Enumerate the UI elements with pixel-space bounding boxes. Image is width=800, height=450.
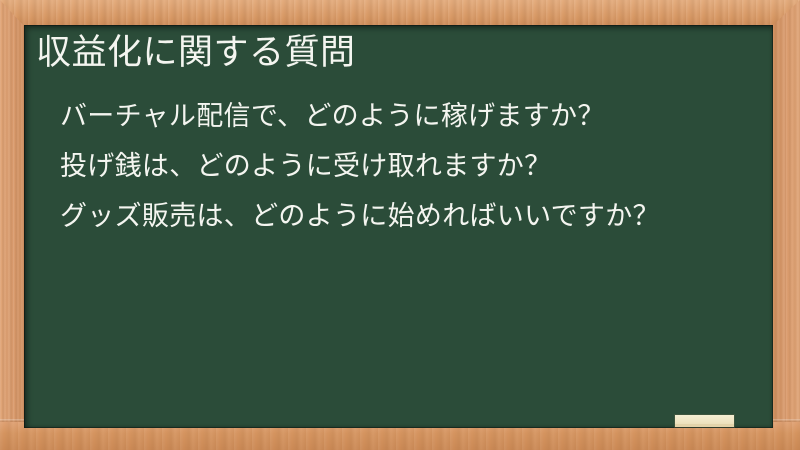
frame-rail-top [0,0,800,26]
chalk-eraser [675,415,734,427]
board-question-line: バーチャル配信で、どのように稼げますか？ [60,103,763,130]
frame-rail-left [0,0,24,450]
board-question-line: 投げ銭は、どのように受け取れますか？ [60,153,763,180]
chalk-eraser-felt [675,424,734,427]
board-question-list: バーチャル配信で、どのように稼げますか？ 投げ銭は、どのように受け取れますか？ … [60,103,763,253]
board-question-line: グッズ販売は、どのように始めればいいですか？ [60,203,763,230]
board-title: 収益化に関する質問 [36,31,356,75]
frame-rail-right [772,0,800,450]
slide-stage: 収益化に関する質問 バーチャル配信で、どのように稼げますか？ 投げ銭は、どのよう… [0,0,800,450]
chalkboard: 収益化に関する質問 バーチャル配信で、どのように稼げますか？ 投げ銭は、どのよう… [24,25,773,428]
